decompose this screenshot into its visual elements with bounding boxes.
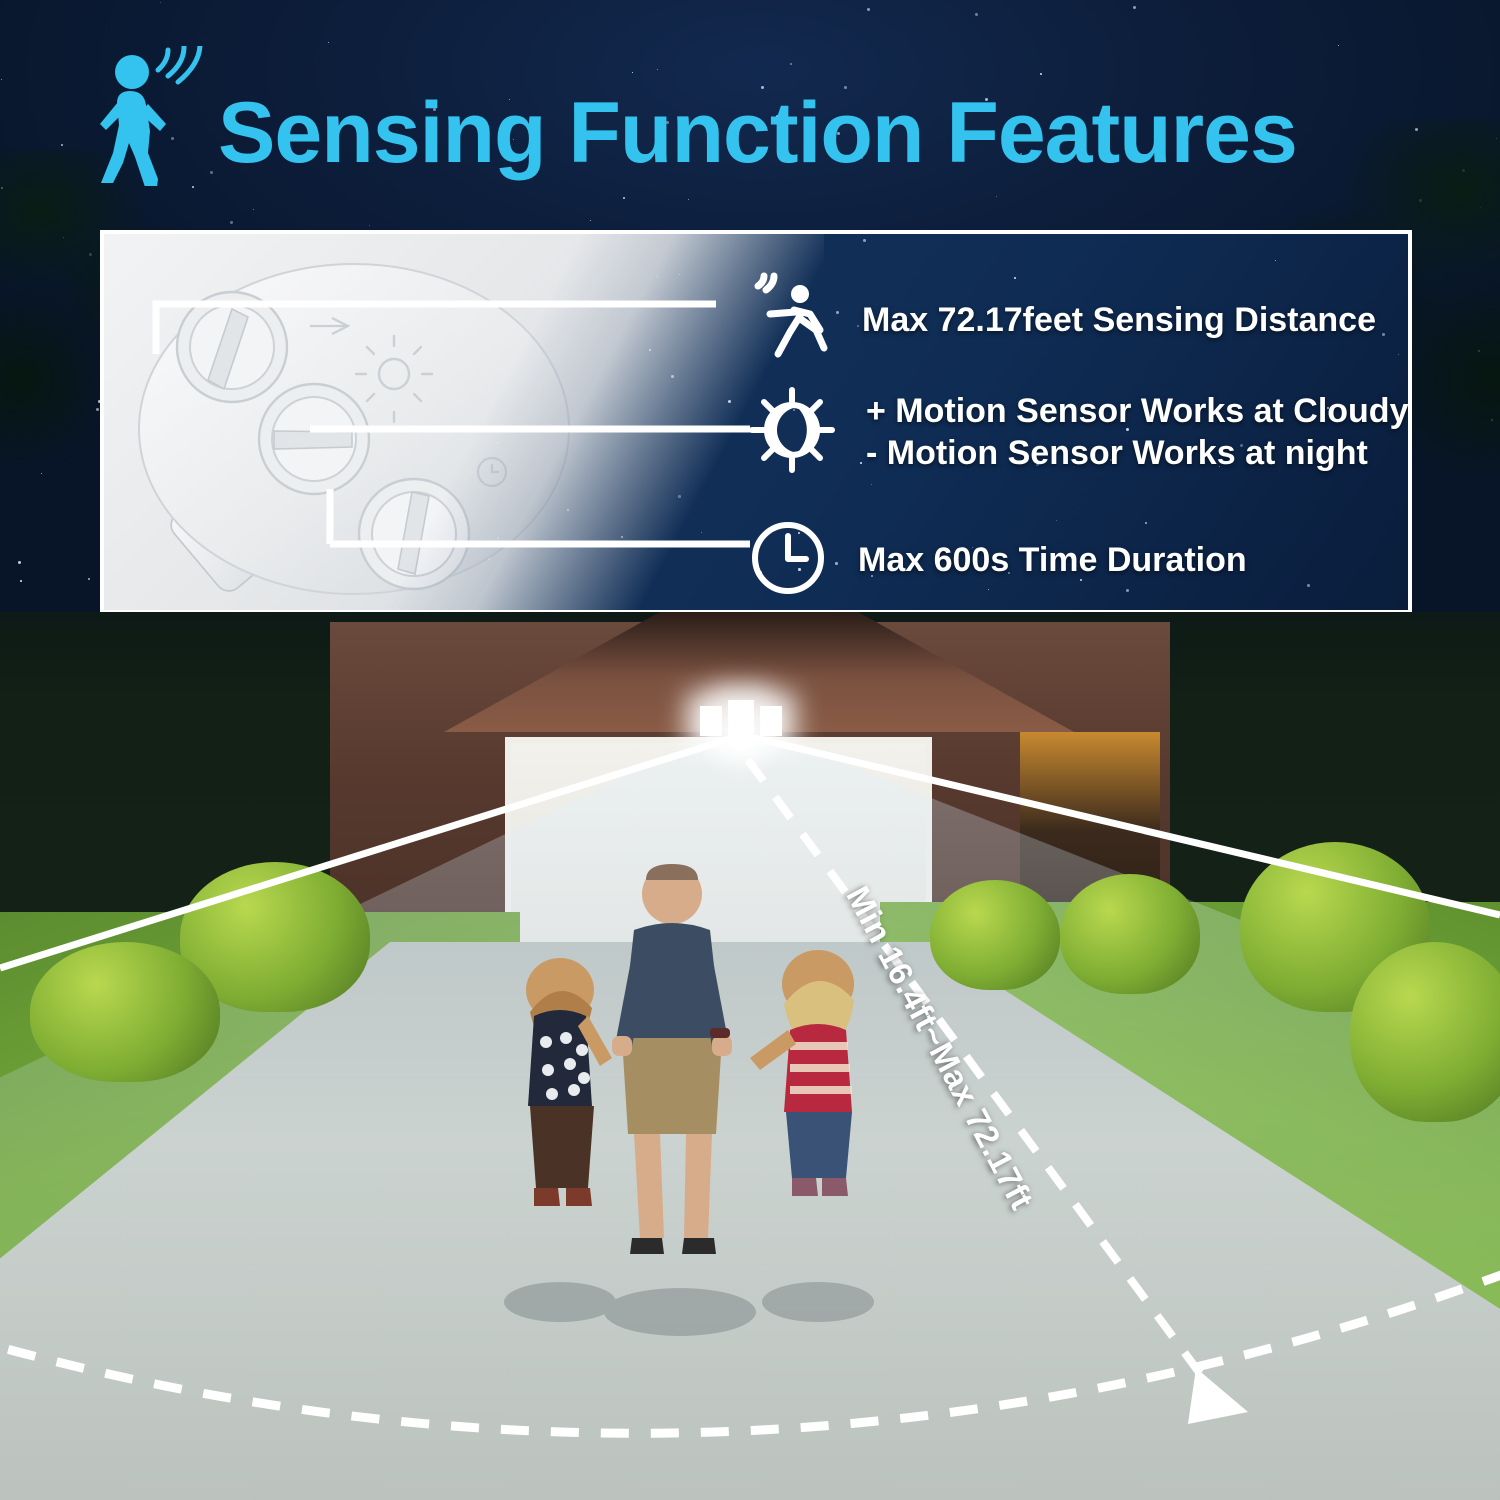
family-walking-group [0, 612, 1500, 1500]
features-panel: Max 72.17feet Sensing Distance + Motion … [100, 230, 1412, 614]
feature-light-text-block: + Motion Sensor Works at Cloudy Day - Mo… [866, 391, 1412, 474]
header: Sensing Function Features [0, 38, 1500, 188]
running-person-sensing-icon [744, 272, 836, 369]
walking-person-motion-icon [92, 46, 212, 186]
child-figure-left [526, 958, 612, 1206]
page-title: Sensing Function Features [218, 90, 1297, 176]
product-feature-infographic: Sensing Function Features [0, 0, 1500, 1500]
feature-light-line-2: - Motion Sensor Works at night [866, 433, 1412, 474]
child-figure-right [750, 950, 854, 1196]
sun-moon-icon [744, 382, 840, 483]
feature-distance-text: Max 72.17feet Sensing Distance [862, 300, 1376, 341]
clock-icon [744, 514, 832, 607]
feature-time-text: Max 600s Time Duration [858, 540, 1247, 581]
feature-row-time: Max 600s Time Duration [744, 514, 1247, 607]
feature-row-distance: Max 72.17feet Sensing Distance [744, 272, 1376, 369]
driveway-night-scene [0, 612, 1500, 1500]
feature-light-line-1: + Motion Sensor Works at Cloudy Day [866, 391, 1412, 432]
adult-figure [612, 864, 732, 1254]
feature-row-light: + Motion Sensor Works at Cloudy Day - Mo… [744, 382, 1412, 483]
